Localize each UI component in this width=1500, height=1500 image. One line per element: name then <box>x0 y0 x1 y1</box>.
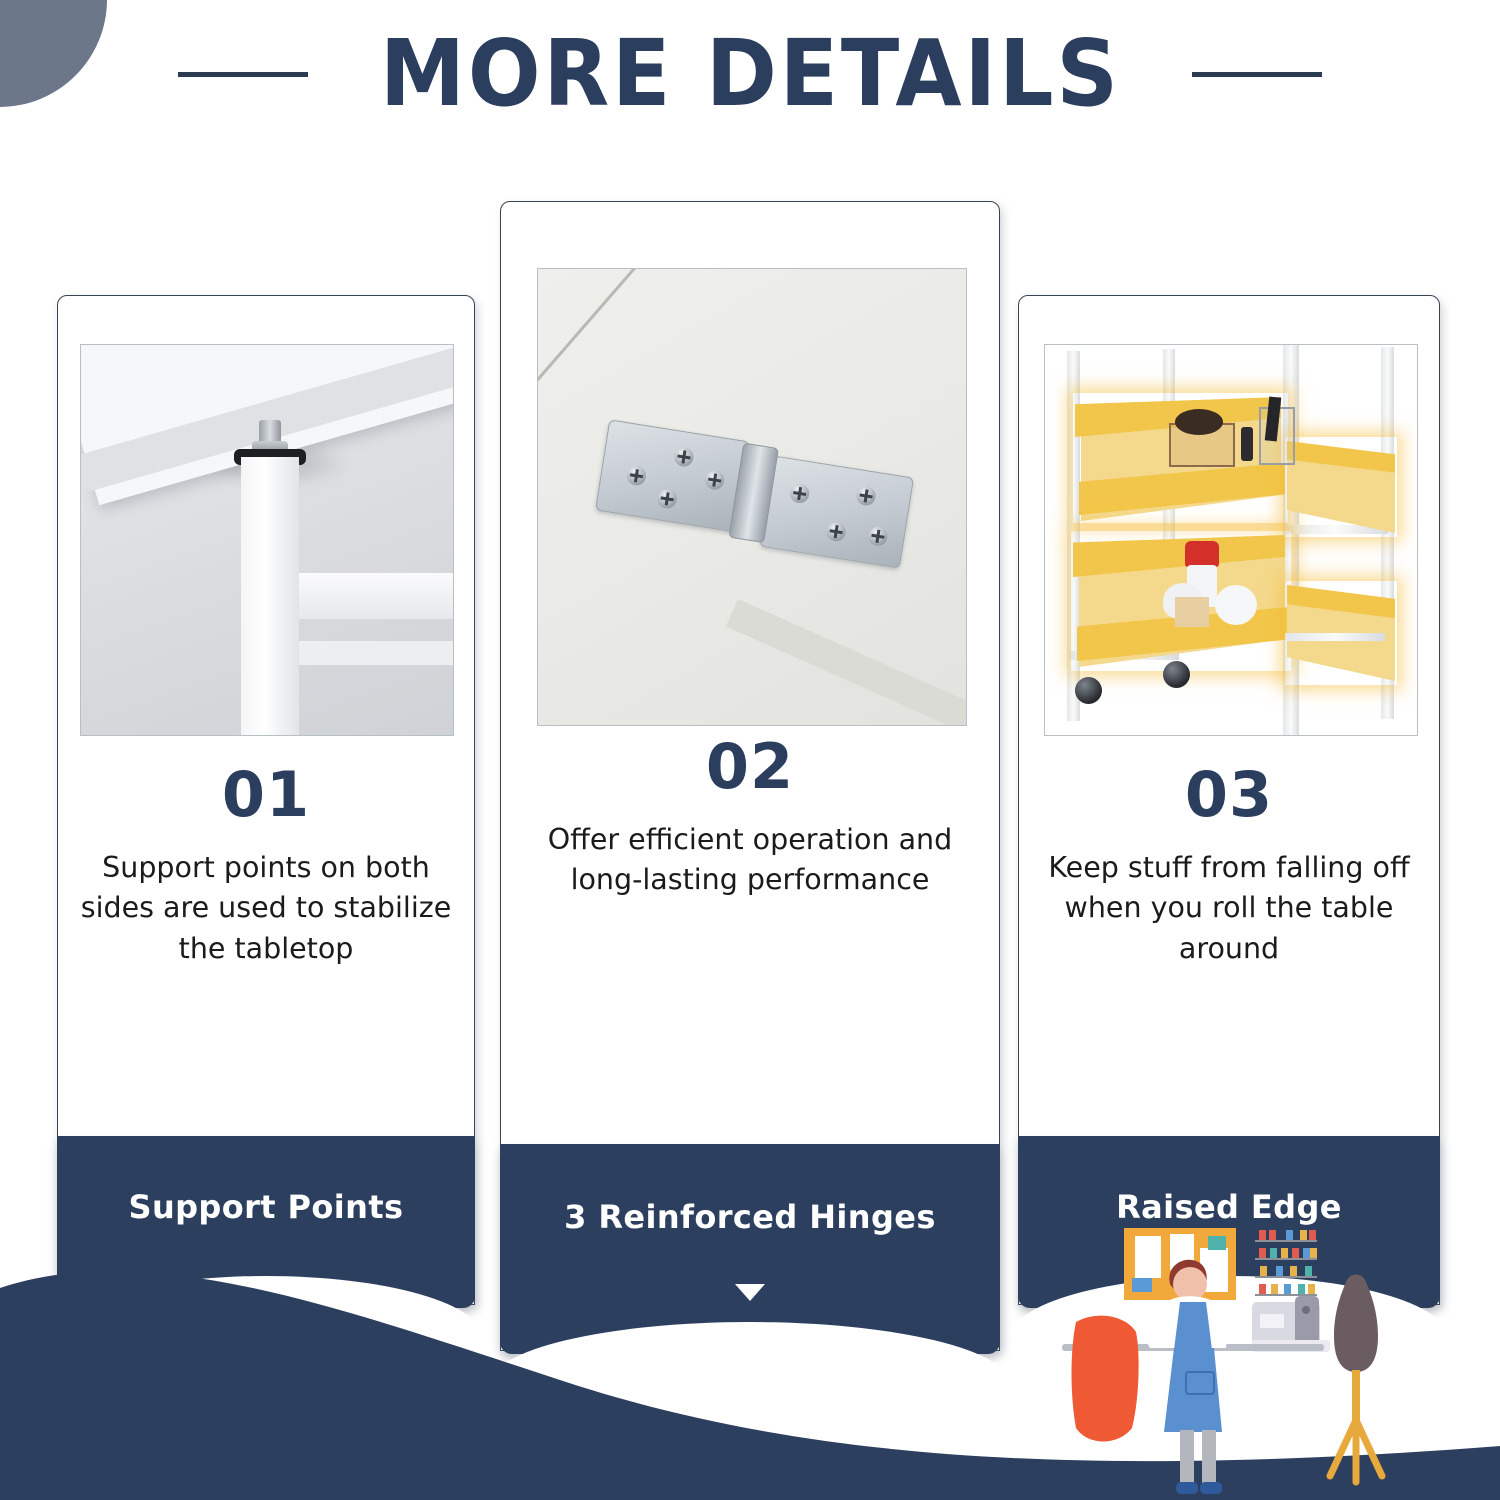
card-2-number: 02 <box>501 730 999 803</box>
seamstress-sewing-table-illustration <box>1040 1210 1460 1500</box>
thread-spools-shelf-icon <box>1255 1230 1317 1296</box>
dress-form-icon <box>1330 1275 1382 1483</box>
sewing-machine-icon <box>1252 1296 1330 1352</box>
card-1-number: 01 <box>58 758 474 831</box>
card-3-image <box>1044 344 1418 736</box>
card-3-number: 03 <box>1019 758 1439 831</box>
card-1-footer-label: Support Points <box>57 1188 475 1226</box>
card-3-description: Keep stuff from falling off when you rol… <box>1033 848 1425 969</box>
feature-card-raised-edge[interactable]: 03 Keep stuff from falling off when you … <box>1018 295 1440 1305</box>
card-2-description: Offer efficient operation and long-lasti… <box>515 820 985 901</box>
feature-card-support-points[interactable]: 01 Support points on both sides are used… <box>57 295 475 1305</box>
header-dash-right <box>1192 72 1322 77</box>
page-header: MORE DETAILS <box>0 28 1500 120</box>
header-dash-left <box>178 72 308 77</box>
card-1-image <box>80 344 454 736</box>
card-2-image <box>537 268 967 726</box>
feature-cards-row: 01 Support points on both sides are used… <box>0 195 1500 1255</box>
card-1-description: Support points on both sides are used to… <box>72 848 460 969</box>
page-title: MORE DETAILS <box>380 28 1121 120</box>
red-fabric-icon <box>1072 1316 1139 1442</box>
feature-card-reinforced-hinges[interactable]: 02 Offer efficient operation and long-la… <box>500 201 1000 1351</box>
